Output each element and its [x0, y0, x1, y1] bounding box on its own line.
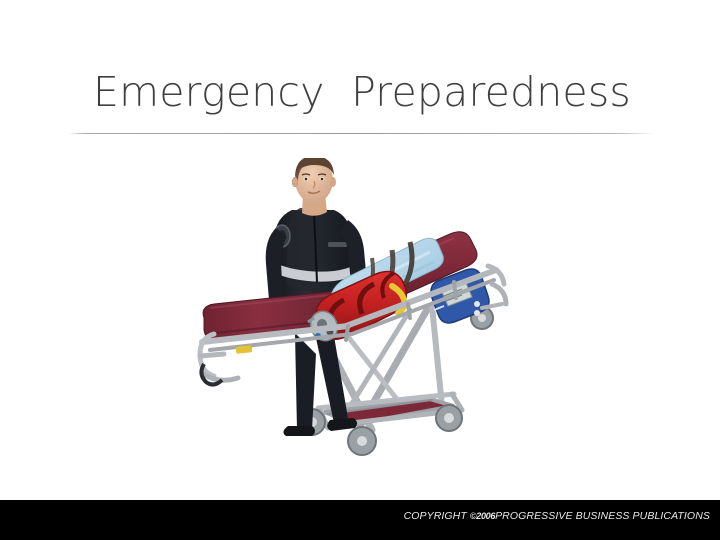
paramedic-with-stretcher-photo: [196, 158, 526, 498]
title-divider: [68, 133, 656, 134]
copyright-mark: ©2006: [470, 511, 495, 521]
page-title: Emergency Preparedness: [68, 62, 656, 122]
photo-illustration: [196, 158, 526, 498]
footer-bar: COPYRIGHT ©2006PROGRESSIVE BUSINESS PUBL…: [0, 500, 720, 540]
publisher-name: PROGRESSIVE BUSINESS PUBLICATIONS: [495, 510, 710, 522]
presentation-slide: Emergency Preparedness: [0, 0, 720, 540]
copyright-word: COPYRIGHT: [404, 510, 467, 522]
title-block: Emergency Preparedness: [68, 62, 656, 134]
copyright-notice: COPYRIGHT ©2006PROGRESSIVE BUSINESS PUBL…: [404, 510, 710, 522]
